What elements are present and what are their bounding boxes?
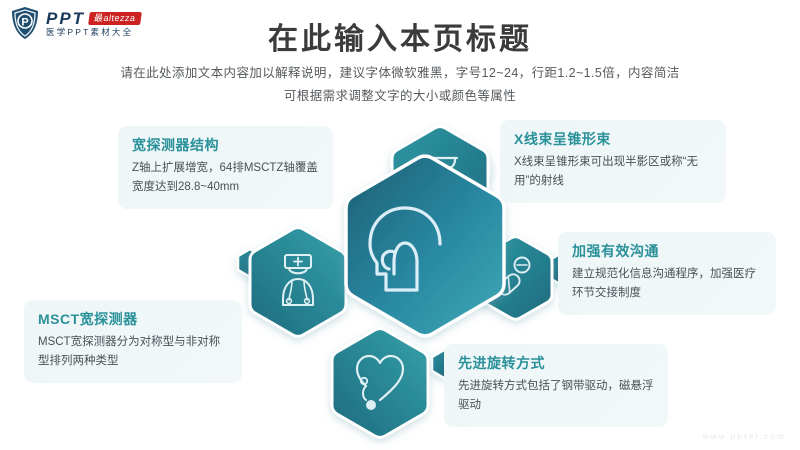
doctor-icon — [283, 255, 313, 305]
subtitle-line-1: 请在此处添加文本内容加以解释说明，建议字体微软雅黑，字号12~24，行距1.2~… — [0, 62, 800, 85]
callout-wide-detector: 宽探测器结构 Z轴上扩展增宽，64排MSCTZ轴覆盖宽度达到28.8~40mm — [118, 126, 333, 209]
pills-icon — [496, 258, 530, 298]
callout-body-msct: MSCT宽探测器分为对称型与非对称型排列两种类型 — [38, 333, 228, 371]
callout-heading-rotation: 先进旋转方式 — [458, 355, 654, 372]
footer-watermark: www.ppter.com — [702, 431, 786, 441]
heart-stethoscope-icon — [357, 356, 403, 410]
callout-heading-xray-cone: X线束呈锥形束 — [514, 131, 712, 148]
decorative-hexagon-top-left — [365, 198, 389, 226]
hexagon-doctor — [250, 228, 346, 337]
slide-canvas: P PPT 最altezza 医学PPT素材大全 在此输入本页标题 请在此处添加… — [0, 0, 800, 450]
page-subtitle: 请在此处添加文本内容加以解释说明，建议字体微软雅黑，字号12~24，行距1.2~… — [0, 62, 800, 108]
callout-heading-wide-detector: 宽探测器结构 — [132, 137, 319, 154]
callout-communication: 加强有效沟通 建立规范化信息沟通程序，加强医疗环节交接制度 — [558, 232, 776, 315]
page-title: 在此输入本页标题 — [0, 14, 800, 58]
hexagon-dna — [392, 127, 488, 236]
callout-msct: MSCT宽探测器 MSCT宽探测器分为对称型与非对称型排列两种类型 — [24, 300, 242, 383]
hexagon-pills — [479, 237, 552, 319]
callout-heading-communication: 加强有效沟通 — [572, 243, 762, 260]
callout-body-rotation: 先进旋转方式包括了钢带驱动，磁悬浮驱动 — [458, 377, 654, 415]
dna-helix-icon — [423, 158, 457, 194]
callout-body-communication: 建立规范化信息沟通程序，加强医疗环节交接制度 — [572, 265, 762, 303]
callout-rotation: 先进旋转方式 先进旋转方式包括了钢带驱动，磁悬浮驱动 — [444, 344, 668, 427]
callout-xray-cone: X线束呈锥形束 X线束呈锥形束可出现半影区或称“无用”的射线 — [500, 120, 726, 203]
callout-body-xray-cone: X线束呈锥形束可出现半影区或称“无用”的射线 — [514, 153, 712, 191]
hexagon-heart — [332, 329, 428, 438]
callout-body-wide-detector: Z轴上扩展增宽，64排MSCTZ轴覆盖宽度达到28.8~40mm — [132, 159, 319, 197]
decorative-hexagon-left — [238, 249, 262, 277]
subtitle-line-2: 可根据需求调整文字的大小或颜色等属性 — [0, 85, 800, 108]
head-anatomy-icon — [370, 208, 440, 290]
decorative-hexagon-top-right — [466, 155, 490, 183]
callout-heading-msct: MSCT宽探测器 — [38, 311, 228, 328]
hexagon-center — [346, 156, 504, 336]
